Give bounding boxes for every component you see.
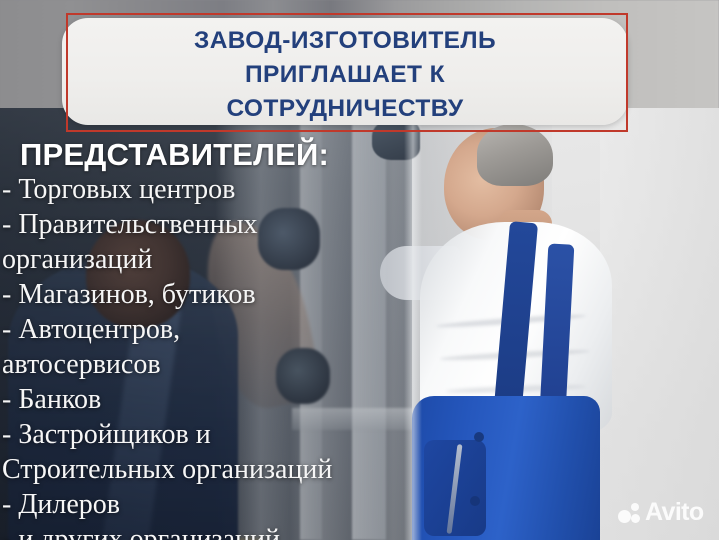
avito-dot-small-top xyxy=(631,503,639,511)
right-man-hair xyxy=(477,124,553,186)
list-item: Строительных организаций xyxy=(2,452,332,487)
list-item: организаций xyxy=(2,242,332,277)
list-item: - Правительственных xyxy=(2,207,332,242)
list-item: - и других организаций xyxy=(2,522,332,540)
list-item: - Застройщиков и xyxy=(2,417,332,452)
right-wall-highlight xyxy=(600,108,719,540)
overall-button xyxy=(474,432,484,442)
avito-logo-icon xyxy=(618,503,640,523)
avito-dot-large xyxy=(618,510,631,523)
banner-text: ЗАВОД-ИЗГОТОВИТЕЛЬ ПРИГЛАШАЕТ К СОТРУДНИ… xyxy=(62,24,628,126)
avito-dot-small-bottom xyxy=(631,514,640,523)
avito-wordmark: Avito xyxy=(645,500,704,525)
list-item: - Банков xyxy=(2,382,332,417)
advertisement-image: ЗАВОД-ИЗГОТОВИТЕЛЬ ПРИГЛАШАЕТ К СОТРУДНИ… xyxy=(0,0,719,540)
banner-line-2: ПРИГЛАШАЕТ К xyxy=(62,58,628,92)
overall-button xyxy=(470,496,480,506)
avito-watermark: Avito xyxy=(618,500,704,525)
list-item: - Торговых центров xyxy=(2,172,332,207)
list-item: - Магазинов, бутиков xyxy=(2,277,332,312)
list-item: автосервисов xyxy=(2,347,332,382)
representatives-list: - Торговых центров - Правительственных о… xyxy=(2,172,332,540)
photo-seam xyxy=(404,108,422,540)
banner-line-1: ЗАВОД-ИЗГОТОВИТЕЛЬ xyxy=(62,24,628,58)
list-item: - Автоцентров, xyxy=(2,312,332,347)
list-item: - Дилеров xyxy=(2,487,332,522)
banner-line-3: СОТРУДНИЧЕСТВУ xyxy=(62,92,628,126)
page-title: ПРЕДСТАВИТЕЛЕЙ: xyxy=(20,138,329,172)
